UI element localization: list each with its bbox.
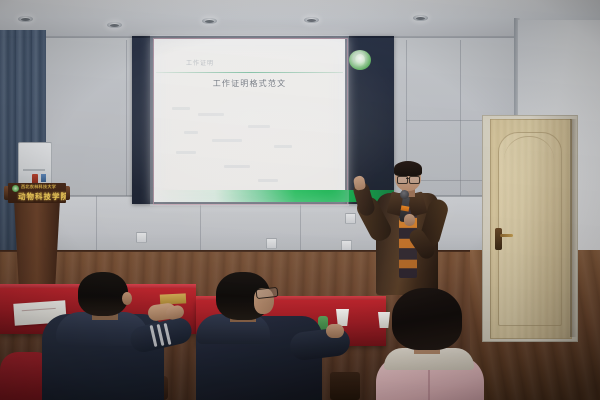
podium-university-name: 西北农林科技大学 (21, 184, 66, 190)
power-outlet (136, 232, 147, 243)
speaker-right-hand (404, 214, 415, 226)
control-blue-label (41, 174, 46, 182)
downlight-icon (304, 17, 319, 23)
downlight-icon (107, 22, 122, 28)
downlight-icon (413, 15, 428, 21)
door-handle-plate[interactable] (495, 228, 502, 250)
panel-seam (96, 196, 97, 256)
paper-text-line (22, 308, 56, 311)
student-glasses-hand (326, 324, 344, 338)
lecture-hall-photo: 工作证明 工作证明格式范文 西北农林科技大学 动物科技学院 (0, 0, 600, 400)
student-hoodie-ear (122, 292, 132, 305)
paper-cup (378, 312, 390, 328)
panel-seam (200, 196, 201, 256)
speaker-hair (394, 161, 422, 176)
chair-back (330, 372, 360, 400)
speaker-glasses-right-lens (409, 176, 420, 184)
power-outlet (266, 238, 277, 249)
student-hoodie-head (78, 272, 128, 316)
panel-seam (300, 196, 301, 256)
podium-college-name: 动物科技学院 (18, 191, 66, 202)
slide-green-accent-bar (154, 190, 345, 202)
downlight-icon (18, 16, 33, 22)
speaker-glasses-bridge (406, 178, 409, 179)
ceiling (0, 0, 600, 40)
slide-header-text: 工作证明 (186, 58, 266, 70)
downlight-icon (202, 18, 217, 24)
door-lever-handle[interactable] (500, 234, 513, 237)
control-slot (23, 169, 45, 171)
screen-side-panel-left (132, 38, 154, 204)
podium-name-plate: 西北农林科技大学 动物科技学院 (8, 183, 66, 203)
door-shadow (570, 119, 577, 337)
slide-title: 工作证明格式范文 (158, 78, 341, 89)
slide-divider-line (156, 72, 343, 73)
university-emblem-inner-icon (355, 54, 365, 66)
power-outlet (345, 213, 356, 224)
attendee-pink-hair (392, 288, 462, 350)
